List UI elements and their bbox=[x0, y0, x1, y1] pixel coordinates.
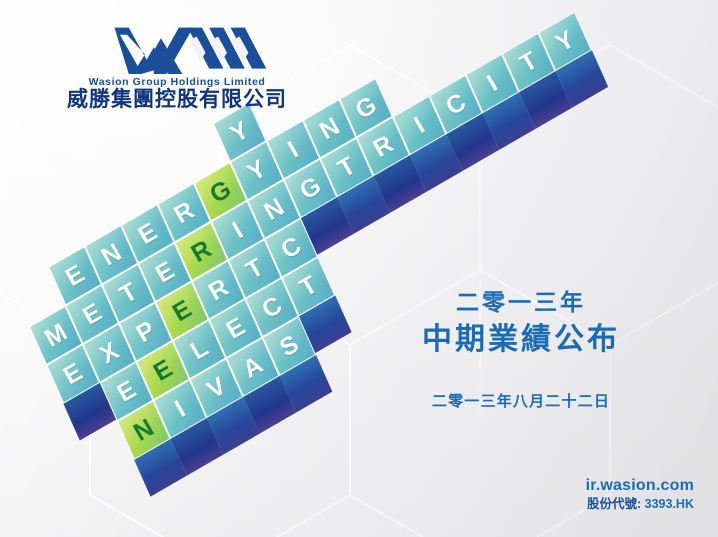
slide-headline: 二零一三年 中期業績公布 bbox=[356, 288, 686, 359]
presentation-slide: YENERGYINGMETERINGTRICITYEXPERTCEELECTNI… bbox=[0, 0, 718, 537]
presentation-date: 二零一三年八月二十二日 bbox=[356, 390, 686, 411]
stock-code-value: 3393.HK bbox=[645, 497, 694, 511]
company-name-cn: 威勝集團控股有限公司 bbox=[62, 89, 292, 111]
stock-code-separator: : bbox=[637, 497, 645, 511]
stock-code-line: 股份代號: 3393.HK bbox=[586, 496, 694, 513]
ir-website-link[interactable]: ir.wasion.com bbox=[586, 475, 694, 497]
footer-block: ir.wasion.com 股份代號: 3393.HK bbox=[586, 475, 694, 513]
headline-line-2: 中期業績公布 bbox=[356, 320, 686, 359]
wasion-w-mark-icon bbox=[62, 24, 292, 74]
stock-code-label: 股份代號 bbox=[587, 497, 637, 511]
company-logo: Wasion Group Holdings Limited 威勝集團控股有限公司 bbox=[62, 24, 292, 111]
company-name-en: Wasion Group Holdings Limited bbox=[62, 76, 292, 88]
headline-line-1: 二零一三年 bbox=[356, 288, 686, 318]
